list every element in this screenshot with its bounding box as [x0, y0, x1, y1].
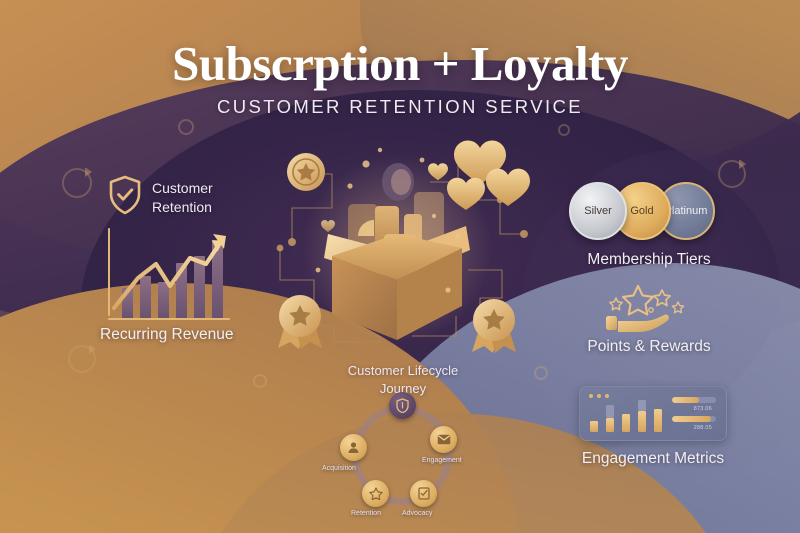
star-medal [472, 299, 516, 353]
feature-points-rewards[interactable]: Points & Rewards [563, 280, 735, 356]
metrics-label: Engagement Metrics [563, 450, 743, 468]
retention-label-line2: Retention [152, 198, 213, 216]
rewards-label: Points & Rewards [563, 338, 735, 356]
metrics-bar [606, 418, 614, 432]
ring-decor-icon [253, 374, 267, 388]
feature-engagement-metrics[interactable]: 873.06 288.05 Engagement Metrics [563, 386, 743, 468]
hand-with-stars-icon [563, 280, 735, 334]
refresh-cycle-icon [68, 345, 96, 373]
journey-title-line1: Customer Lifecycle [318, 362, 488, 380]
star-icon [369, 487, 383, 500]
ring-decor-icon [558, 124, 570, 136]
metrics-bar-ghost [638, 400, 646, 411]
journey-label-retention: Retention [351, 510, 381, 517]
poster-canvas: Subscrption + Loyalty CUSTOMER RETENTION… [0, 0, 800, 533]
customer-lifecycle-journey[interactable]: Customer Lifecycle Journey Acquisition [318, 362, 488, 527]
tier-platinum-label: Platinum [665, 205, 708, 217]
retention-label: Customer Retention [152, 179, 213, 215]
tier-silver-label: Silver [584, 205, 612, 217]
journey-label-acquisition: Acquisition [322, 465, 356, 472]
page-subtitle: CUSTOMER RETENTION SERVICE [0, 96, 800, 118]
metrics-bar [622, 414, 630, 432]
metrics-progress-bar [672, 416, 716, 422]
tier-silver[interactable]: Silver [569, 182, 627, 240]
feature-recurring-revenue[interactable]: Recurring Revenue [100, 228, 232, 344]
revenue-label: Recurring Revenue [100, 326, 232, 344]
poster-header: Subscrption + Loyalty CUSTOMER RETENTION… [0, 38, 800, 118]
refresh-cycle-icon [62, 168, 92, 198]
metrics-value: 873.06 [694, 406, 712, 412]
ring-decor-icon [534, 366, 548, 380]
growth-chart-icon [100, 228, 232, 320]
metrics-bar [654, 409, 662, 432]
user-icon [347, 441, 360, 454]
metrics-value: 288.05 [694, 425, 712, 431]
journey-node-acquisition[interactable] [340, 434, 367, 461]
tier-gold-label: Gold [630, 205, 653, 217]
window-dot-icon [605, 394, 609, 398]
window-dot-icon [597, 394, 601, 398]
ring-decor-icon [178, 119, 194, 135]
page-title: Subscrption + Loyalty [0, 38, 800, 89]
metrics-bar [590, 421, 598, 432]
tiers-label: Membership Tiers [563, 251, 735, 269]
feature-customer-retention[interactable]: Customer Retention [108, 175, 213, 220]
chart-trend-arrow [108, 230, 232, 318]
metrics-bar-ghost [606, 405, 614, 418]
metrics-dashboard-card[interactable]: 873.06 288.05 [579, 386, 727, 441]
envelope-icon [437, 434, 451, 445]
journey-label-engagement: Engagement [422, 457, 462, 464]
metrics-bar [638, 411, 646, 432]
journey-node-engagement[interactable] [430, 426, 457, 453]
journey-node-advocacy[interactable] [410, 480, 437, 507]
retention-label-line1: Customer [152, 179, 213, 197]
tier-circles: Platinum Gold Silver [563, 182, 735, 240]
journey-node-retention[interactable] [362, 480, 389, 507]
chart-x-axis [108, 318, 230, 320]
star-medal [278, 295, 322, 349]
journey-node-shield[interactable] [389, 392, 416, 419]
feature-membership-tiers[interactable]: Platinum Gold Silver Membership Tiers [563, 182, 735, 269]
shield-icon [396, 398, 409, 413]
gift-box-illustration [262, 130, 532, 365]
metrics-progress-bar [672, 397, 716, 403]
window-dot-icon [589, 394, 593, 398]
checklist-icon [418, 487, 430, 500]
journey-label-advocacy: Advocacy [402, 510, 432, 517]
star-medal [287, 153, 325, 191]
shield-check-icon [108, 175, 142, 220]
